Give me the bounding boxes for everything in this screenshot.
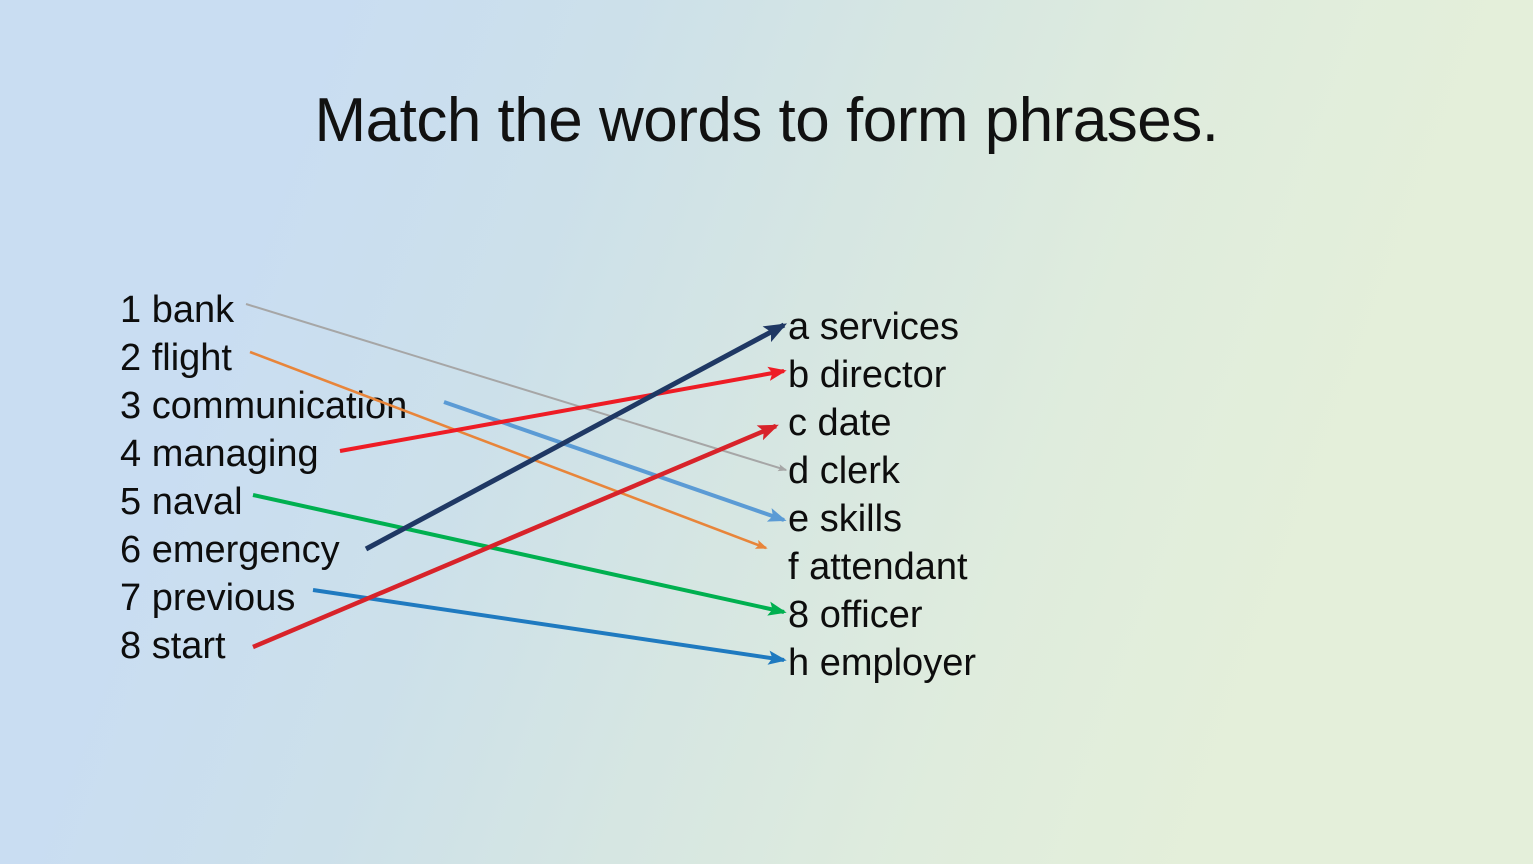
slide-canvas: Match the words to form phrases. 1 bank2… <box>0 0 1533 864</box>
right-word-item-4[interactable]: d clerk <box>788 447 1218 495</box>
right-word-item-5[interactable]: e skills <box>788 495 1218 543</box>
left-word-item-5[interactable]: 5 naval <box>120 478 550 526</box>
right-word-item-7[interactable]: 8 officer <box>788 591 1218 639</box>
right-word-item-1[interactable]: a services <box>788 303 1218 351</box>
page-title: Match the words to form phrases. <box>0 88 1533 153</box>
left-word-item-3[interactable]: 3 communication <box>120 382 550 430</box>
left-word-item-1[interactable]: 1 bank <box>120 286 550 334</box>
left-word-item-8[interactable]: 8 start <box>120 622 550 670</box>
left-word-item-6[interactable]: 6 emergency <box>120 526 550 574</box>
right-word-item-3[interactable]: c date <box>788 399 1218 447</box>
left-word-item-4[interactable]: 4 managing <box>120 430 550 478</box>
right-word-item-6[interactable]: f attendant <box>788 543 1218 591</box>
right-word-item-8[interactable]: h employer <box>788 639 1218 687</box>
left-word-item-2[interactable]: 2 flight <box>120 334 550 382</box>
left-words-column: 1 bank2 flight3 communication4 managing5… <box>120 286 550 670</box>
left-word-item-7[interactable]: 7 previous <box>120 574 550 622</box>
right-words-column: a servicesb directorc dated clerke skill… <box>788 303 1218 687</box>
right-word-item-2[interactable]: b director <box>788 351 1218 399</box>
